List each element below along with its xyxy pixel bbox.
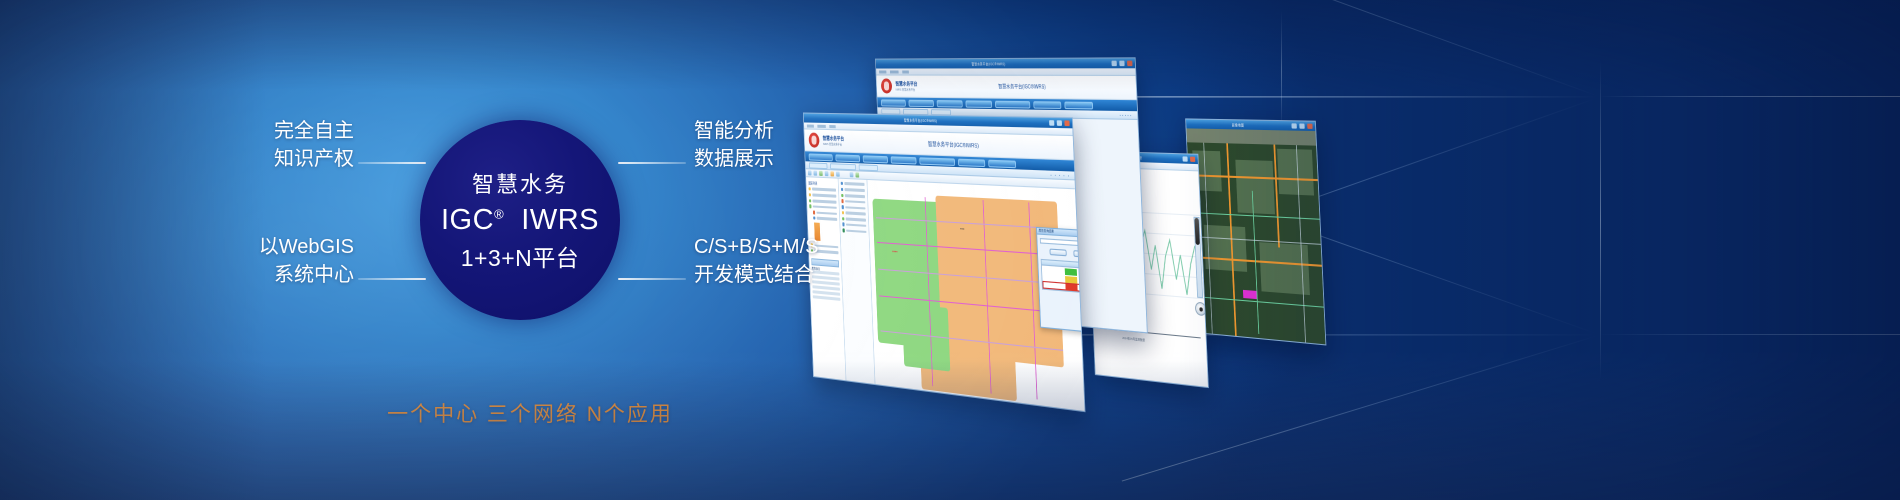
feature-bottom-right-line1: C/S+B/S+M/S	[694, 234, 894, 262]
close-icon[interactable]	[1307, 124, 1313, 129]
infographic: 智慧水务 IGC® IWRS 1+3+N平台 完全自主 知识产权 智能分析 数据…	[270, 100, 790, 420]
window-title: 影像地图	[1189, 121, 1290, 128]
maximize-icon[interactable]	[1119, 61, 1124, 66]
status-links[interactable]: • • • • •	[1050, 172, 1070, 177]
feature-bottom-left: 以WebGIS 系统中心	[216, 234, 354, 289]
minimize-icon[interactable]	[1111, 61, 1116, 66]
tagline: 一个中心 三个网络 N个应用	[270, 398, 790, 428]
feature-bottom-right: C/S+B/S+M/S 开发模式结合	[694, 234, 894, 289]
connector-bottom-right	[618, 278, 686, 280]
minimize-icon[interactable]	[1049, 120, 1054, 126]
query-result-dialog[interactable]: 属性查询结果	[1036, 227, 1085, 334]
tool-item[interactable]	[841, 193, 865, 198]
platform-headline: 智慧水务平台(IGC®IWRS)	[928, 139, 979, 149]
dialog-input[interactable]	[1040, 238, 1085, 247]
nav-button[interactable]	[937, 100, 963, 108]
map-marker[interactable]	[1243, 290, 1257, 299]
tool-item[interactable]	[842, 223, 866, 228]
tree-item[interactable]	[810, 216, 838, 221]
feature-top-right-line1: 智能分析	[694, 118, 874, 146]
nav-button[interactable]	[908, 99, 933, 106]
nav-button[interactable]	[1033, 101, 1061, 109]
nav-button[interactable]	[1064, 101, 1093, 109]
nav-button-monitoring[interactable]	[919, 157, 955, 166]
nav-button[interactable]	[995, 100, 1030, 108]
registered-icon: ®	[494, 207, 504, 222]
layer-tree-title: 图层列表	[808, 180, 836, 186]
platform-headline: 智慧水务平台(IGC®IWRS)	[998, 83, 1046, 91]
brand-subtitle: IWRS 智慧水务平台	[896, 88, 916, 92]
attr-row	[813, 296, 841, 301]
window-titlebar[interactable]: 智慧水务平台(IGC®IWRS)	[876, 58, 1135, 68]
hub-igc: IGC	[441, 204, 494, 236]
hub-iwrs: IWRS	[521, 204, 599, 236]
tool-item[interactable]	[841, 182, 865, 187]
feature-top-right-line2: 数据展示	[694, 146, 874, 174]
close-icon[interactable]	[1064, 120, 1069, 126]
tree-item[interactable]	[809, 187, 837, 192]
tool-item[interactable]	[841, 199, 865, 204]
app-brand: 智慧水务平台 IWRS 智慧水务平台 智慧水务平台(IGC®IWRS)	[876, 75, 1136, 100]
tool-item[interactable]	[843, 229, 867, 234]
feature-top-left-line1: 完全自主	[230, 118, 354, 146]
close-icon[interactable]	[1190, 157, 1195, 162]
dialog-query-button[interactable]	[1049, 249, 1066, 257]
nav-button-statistics[interactable]	[958, 158, 985, 166]
nav-button[interactable]	[965, 100, 992, 108]
map-navigation-pad[interactable]	[1195, 302, 1207, 316]
hub-circle: 智慧水务 IGC® IWRS 1+3+N平台	[420, 120, 620, 320]
tree-item[interactable]	[809, 199, 837, 204]
feature-top-left-line2: 知识产权	[230, 146, 354, 174]
connector-bottom-left	[358, 278, 426, 280]
satellite-map[interactable]	[1186, 128, 1325, 344]
connector-top-left	[358, 162, 426, 164]
tool-item[interactable]	[842, 205, 866, 210]
hero-banner: 影像地图	[0, 0, 1900, 500]
maximize-icon[interactable]	[1057, 120, 1062, 126]
gis-map-canvas[interactable]: ●●●● ▪▪▪▪▪ 属性查询结果	[867, 180, 1084, 411]
window-body: 图层列表 属性信息	[806, 177, 1084, 411]
connector-top-right	[618, 162, 686, 164]
maximize-icon[interactable]	[1299, 123, 1304, 128]
tree-item[interactable]	[809, 210, 837, 215]
tool-item[interactable]	[842, 211, 866, 216]
status-links[interactable]: •••••	[1120, 113, 1133, 118]
tree-item[interactable]	[809, 193, 837, 198]
feature-top-left: 完全自主 知识产权	[230, 118, 354, 173]
nav-button[interactable]	[881, 99, 906, 106]
nav-button-decision[interactable]	[988, 159, 1016, 168]
feature-bottom-left-line1: 以WebGIS	[216, 234, 354, 262]
minimize-icon[interactable]	[1291, 123, 1296, 128]
tool-item[interactable]	[842, 217, 866, 222]
nav-button-network-analysis[interactable]	[891, 156, 917, 164]
feature-top-right: 智能分析 数据展示	[694, 118, 874, 173]
tree-item[interactable]	[809, 205, 837, 210]
feature-bottom-right-line2: 开发模式结合	[694, 262, 894, 290]
minimize-icon[interactable]	[1182, 156, 1187, 161]
hub-line-2: IGC® IWRS	[441, 205, 599, 235]
hub-line-1: 智慧水务	[472, 167, 568, 199]
hub-line-3: 1+3+N平台	[461, 239, 580, 273]
feature-bottom-left-line2: 系统中心	[216, 262, 354, 290]
tool-item[interactable]	[841, 188, 865, 193]
window-title: 智慧水务平台(IGC®IWRS)	[878, 61, 1109, 67]
app-logo-icon	[881, 78, 892, 93]
close-icon[interactable]	[1127, 61, 1132, 67]
window-satellite[interactable]: 影像地图	[1185, 118, 1326, 345]
